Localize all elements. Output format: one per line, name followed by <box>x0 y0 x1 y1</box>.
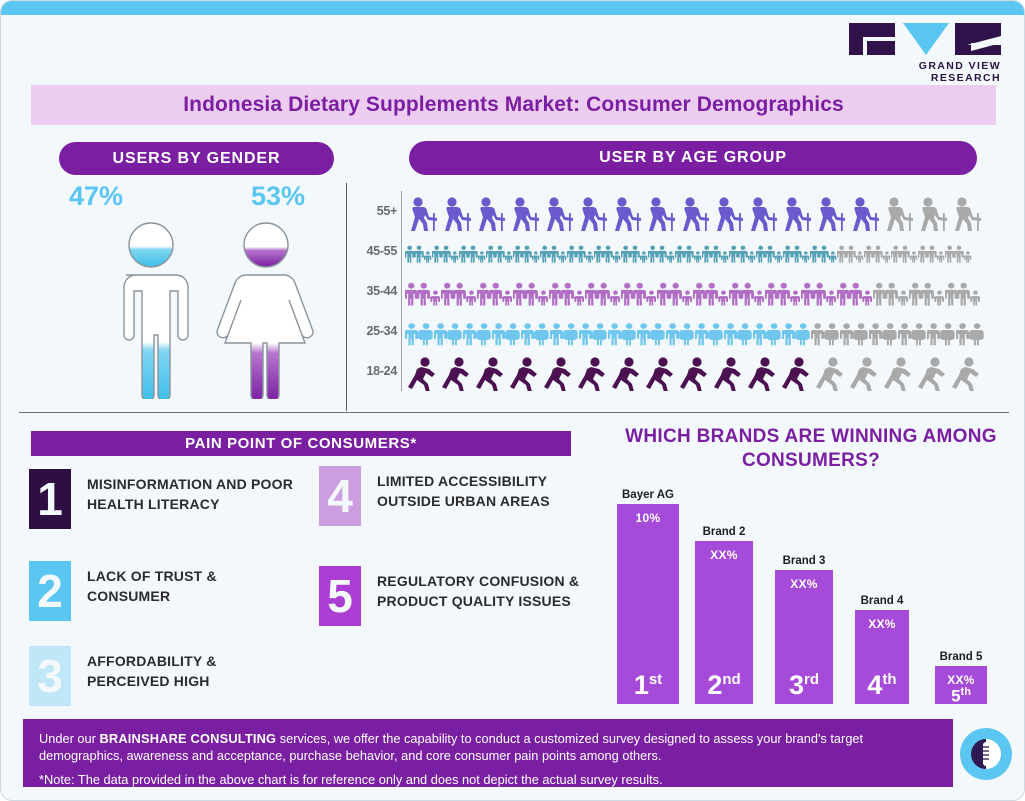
pain-point-number-badge: 1 <box>29 469 71 529</box>
age-row-label: 35-44 <box>353 284 397 298</box>
pain-point-item: 4 LIMITED ACCESSIBILITY OUTSIDE URBAN AR… <box>319 466 592 526</box>
brand-bar-rank: 3rd <box>789 672 819 699</box>
footer-note-panel: Under our BRAINSHARE CONSULTING services… <box>23 719 953 787</box>
pain-point-item: 1 MISINFORMATION AND POOR HEALTH LITERAC… <box>29 469 302 529</box>
female-figure-icon <box>206 219 326 399</box>
pain-point-number-badge: 3 <box>29 646 71 706</box>
age-row: 35-44 <box>353 271 1003 311</box>
pain-point-label: MISINFORMATION AND POOR HEALTH LITERACY <box>87 469 302 515</box>
brand-bar-rank: 1st <box>634 672 662 699</box>
pain-point-number-badge: 5 <box>319 566 361 626</box>
brand-bar-column[interactable]: Brand 5XX%5th <box>935 651 987 704</box>
male-percent-label: 47% <box>69 181 123 212</box>
pain-point-label: LACK OF TRUST & CONSUMER <box>87 561 302 607</box>
brand-bar-column[interactable]: Brand 3XX%3rd <box>775 555 833 704</box>
pain-point-label: LIMITED ACCESSIBILITY OUTSIDE URBAN AREA… <box>377 466 592 512</box>
age-group-chart: 55+45-5535-4425-3418-24 <box>353 191 1003 401</box>
brands-bar-chart: Bayer AG10%1stBrand 2XX%2ndBrand 3XX%3rd… <box>609 489 1009 704</box>
age-row-pictograms <box>405 271 981 311</box>
pain-point-label: AFFORDABILITY & PERCEIVED HIGH <box>87 646 302 692</box>
footer-brand-strong: BRAINSHARE CONSULTING <box>99 731 276 746</box>
grand-view-research-logo: GRAND VIEW RESEARCH <box>849 23 1001 73</box>
logo-marks <box>849 23 1001 55</box>
vertical-divider <box>346 183 347 411</box>
age-row: 25-34 <box>353 311 1003 351</box>
brand-bar-value: 10% <box>636 511 661 525</box>
pain-point-item: 2 LACK OF TRUST & CONSUMER <box>29 561 302 621</box>
brand-bar-value: XX% <box>868 617 896 631</box>
footer-note-text: *Note: The data provided in the above ch… <box>39 771 937 788</box>
gender-figures <box>31 219 341 404</box>
horizontal-divider <box>19 412 1009 413</box>
age-rows: 55+45-5535-4425-3418-24 <box>353 191 1003 391</box>
pain-point-item: 5 REGULATORY CONFUSION & PRODUCT QUALITY… <box>319 566 592 626</box>
brand-bar[interactable]: XX%3rd <box>775 570 833 704</box>
brand-bar[interactable]: 10%1st <box>617 504 679 704</box>
brand-bar-label: Brand 4 <box>861 595 904 607</box>
brand-bar-label: Brand 3 <box>783 555 826 567</box>
age-row-pictograms <box>405 231 972 271</box>
brands-chart-title: WHICH BRANDS ARE WINNING AMONG CONSUMERS… <box>611 425 1011 473</box>
brand-bar-rank: 2nd <box>707 672 740 699</box>
brand-bar-column[interactable]: Brand 2XX%2nd <box>695 526 753 704</box>
footer-pre: Under our <box>39 731 99 746</box>
age-row-pictograms <box>405 351 983 391</box>
age-row: 45-55 <box>353 231 1003 271</box>
brand-bar[interactable]: XX%2nd <box>695 541 753 704</box>
age-row-label: 18-24 <box>353 364 397 378</box>
brand-bar[interactable]: XX%5th <box>935 666 987 704</box>
gender-percent-row: 47% 53% <box>31 181 341 219</box>
brainshare-logo-icon <box>959 727 1013 781</box>
male-figure-icon <box>96 219 206 399</box>
brand-bar-label: Brand 5 <box>940 651 983 663</box>
top-accent-bar <box>1 1 1025 15</box>
pain-point-number-badge: 4 <box>319 466 361 526</box>
page-title: Indonesia Dietary Supplements Market: Co… <box>183 93 844 117</box>
logo-v-icon <box>903 23 949 55</box>
pain-point-label: REGULATORY CONFUSION & PRODUCT QUALITY I… <box>377 566 592 612</box>
brand-bar-value: XX% <box>947 673 975 687</box>
gender-section: 47% 53% <box>31 181 341 406</box>
age-row: 55+ <box>353 191 1003 231</box>
section-header-user-by-age-group: USER BY AGE GROUP <box>409 141 977 175</box>
age-row-pictograms <box>405 311 985 351</box>
logo-r-icon <box>955 23 1001 55</box>
footer-main-text: Under our BRAINSHARE CONSULTING services… <box>39 730 937 764</box>
section-header-users-by-gender: USERS BY GENDER <box>59 142 334 175</box>
age-row-label: 25-34 <box>353 324 397 338</box>
brand-bar[interactable]: XX%4th <box>855 610 909 704</box>
age-row-pictograms <box>405 191 983 231</box>
pain-point-number-badge: 2 <box>29 561 71 621</box>
age-row-label: 55+ <box>353 204 397 218</box>
logo-wordmark: GRAND VIEW RESEARCH <box>849 60 1001 84</box>
brand-bar-rank: 5th <box>951 687 971 705</box>
brand-bar-rank: 4th <box>867 672 896 699</box>
brand-bar-label: Bayer AG <box>622 489 674 501</box>
infographic-page: GRAND VIEW RESEARCH Indonesia Dietary Su… <box>0 0 1025 801</box>
female-percent-label: 53% <box>251 181 305 212</box>
logo-g-icon <box>849 23 895 55</box>
pain-point-item: 3 AFFORDABILITY & PERCEIVED HIGH <box>29 646 302 706</box>
brand-bar-label: Brand 2 <box>703 526 746 538</box>
age-row: 18-24 <box>353 351 1003 391</box>
page-title-band: Indonesia Dietary Supplements Market: Co… <box>31 85 996 125</box>
pain-points-header: PAIN POINT OF CONSUMERS* <box>31 431 571 456</box>
age-row-label: 45-55 <box>353 244 397 258</box>
brand-bar-column[interactable]: Bayer AG10%1st <box>617 489 679 704</box>
brand-bar-column[interactable]: Brand 4XX%4th <box>855 595 909 704</box>
brand-bar-value: XX% <box>790 577 818 591</box>
brand-bar-value: XX% <box>710 548 738 562</box>
